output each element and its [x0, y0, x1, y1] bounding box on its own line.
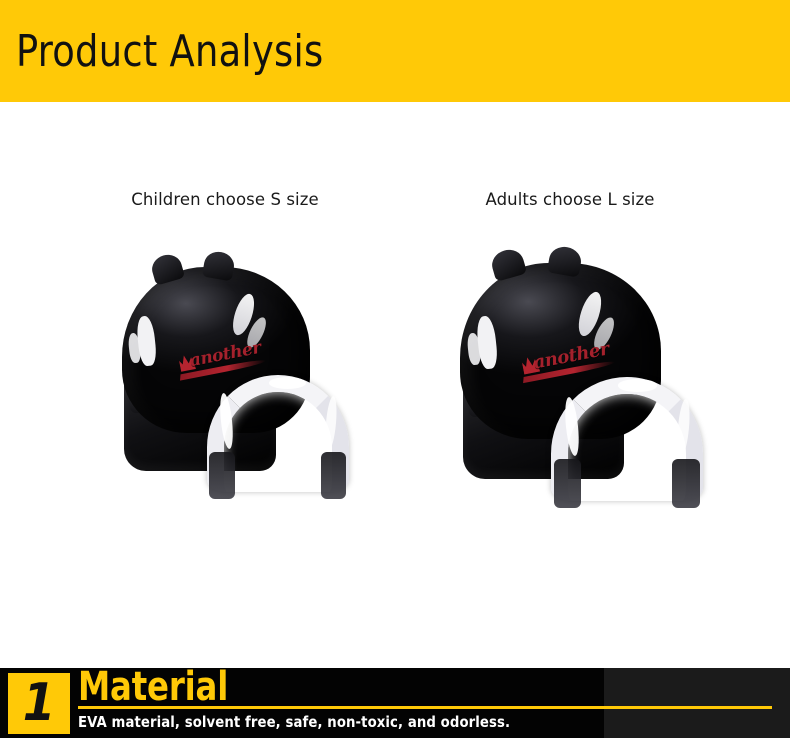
product-image-small: another — [110, 262, 340, 487]
mouthguard-sheen-2 — [269, 377, 306, 389]
product-comparison-stage: Children choose S size another — [0, 102, 790, 668]
crown-icon — [178, 354, 196, 372]
case-ear-left-icon — [489, 247, 528, 283]
step-badge-number: 1 — [23, 677, 56, 729]
section-heading-material: Material — [78, 666, 228, 708]
header-band: Product Analysis — [0, 0, 790, 102]
case-ear-right-icon — [202, 249, 236, 280]
product-card-small: Children choose S size another — [60, 102, 390, 668]
mouthguard-sheen-2 — [618, 379, 657, 391]
mouthguard-leg-left — [209, 452, 235, 499]
section-subtitle-material: EVA material, solvent free, safe, non-to… — [78, 712, 510, 732]
case-ear-left-icon — [149, 251, 185, 285]
mouthguard-leg-right — [672, 459, 699, 509]
mouthguard-large-icon — [551, 377, 703, 501]
product-caption-small: Children choose S size — [60, 190, 390, 209]
product-image-large: another — [448, 258, 693, 496]
step-badge: 1 — [8, 673, 70, 734]
mouthguard-small-icon — [207, 375, 350, 492]
case-ear-right-icon — [546, 244, 583, 277]
product-card-large: Adults choose L size another — [400, 102, 740, 668]
crown-icon — [521, 355, 540, 374]
product-caption-large: Adults choose L size — [400, 190, 740, 209]
mouthguard-leg-right — [321, 452, 347, 499]
mouthguard-leg-left — [554, 459, 581, 509]
page-title: Product Analysis — [16, 26, 323, 78]
section-heading-underline — [78, 706, 772, 709]
